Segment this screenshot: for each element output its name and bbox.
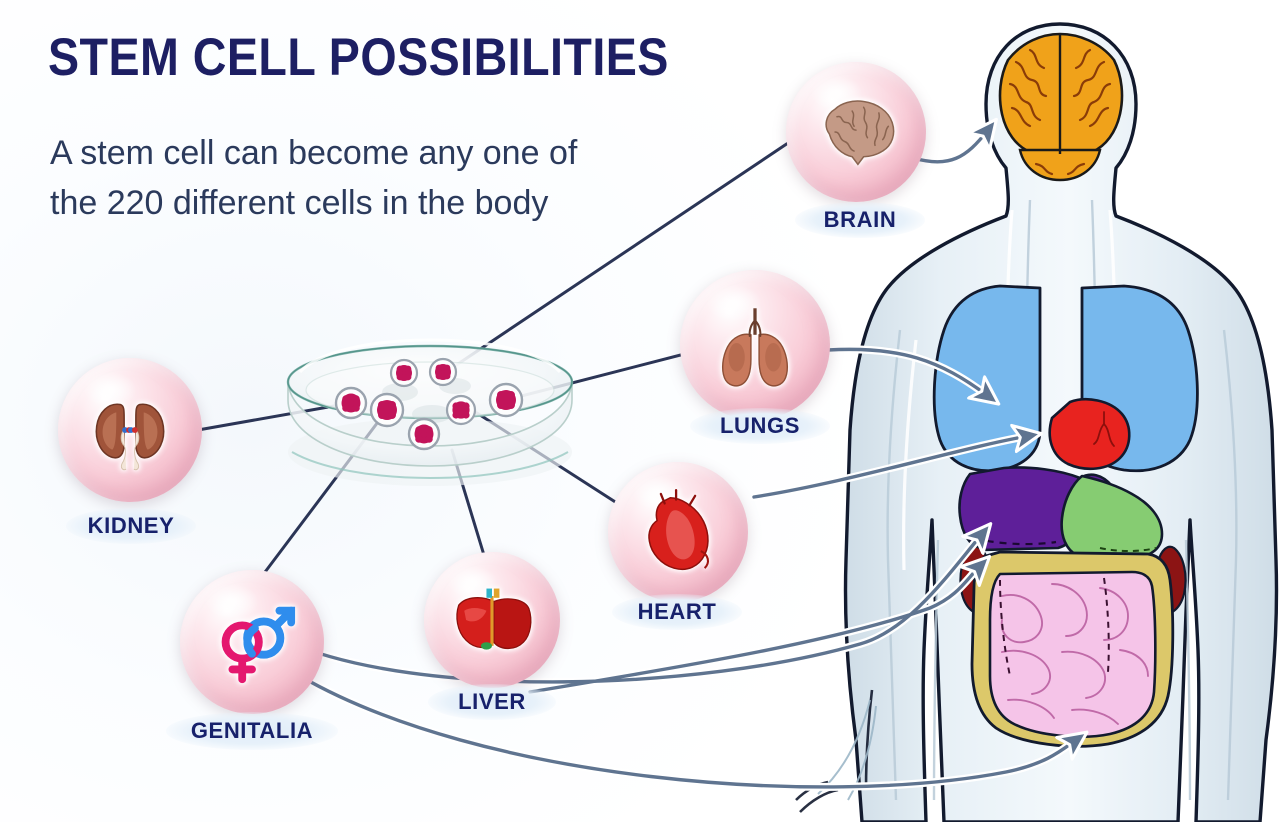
- stem-cell: [447, 396, 475, 424]
- bubble-kidney[interactable]: [58, 358, 202, 502]
- stem-cell: [371, 394, 403, 426]
- stem-cell: [490, 384, 522, 416]
- label-lungs: LUNGS: [690, 408, 830, 444]
- label-brain: BRAIN: [795, 202, 925, 238]
- bubble-lungs[interactable]: [680, 270, 830, 420]
- label-liver: LIVER: [428, 684, 556, 720]
- infographic-canvas: STEM CELL POSSIBILITIES A stem cell can …: [0, 0, 1280, 822]
- petri-dish: [288, 340, 572, 486]
- brain-icon: [808, 84, 903, 179]
- stem-cell: [430, 359, 456, 385]
- lungs-icon: [704, 294, 806, 396]
- bubble-liver[interactable]: [424, 552, 560, 688]
- label-heart: HEART: [612, 594, 742, 630]
- kidneys-icon: [81, 381, 179, 479]
- bubble-heart[interactable]: [608, 462, 748, 602]
- intestines-organ: [990, 572, 1155, 737]
- stem-cell: [336, 388, 366, 418]
- bubble-genitalia[interactable]: [180, 570, 324, 714]
- label-kidney: KIDNEY: [66, 508, 196, 544]
- gender-symbols-icon: [203, 593, 301, 691]
- bubble-brain[interactable]: [786, 62, 926, 202]
- liver-icon: [446, 574, 538, 666]
- heart-icon: [630, 484, 725, 579]
- stem-cell: [409, 419, 439, 449]
- heart-organ: [1050, 399, 1130, 469]
- label-genitalia: GENITALIA: [166, 712, 338, 750]
- stem-cell: [391, 360, 417, 386]
